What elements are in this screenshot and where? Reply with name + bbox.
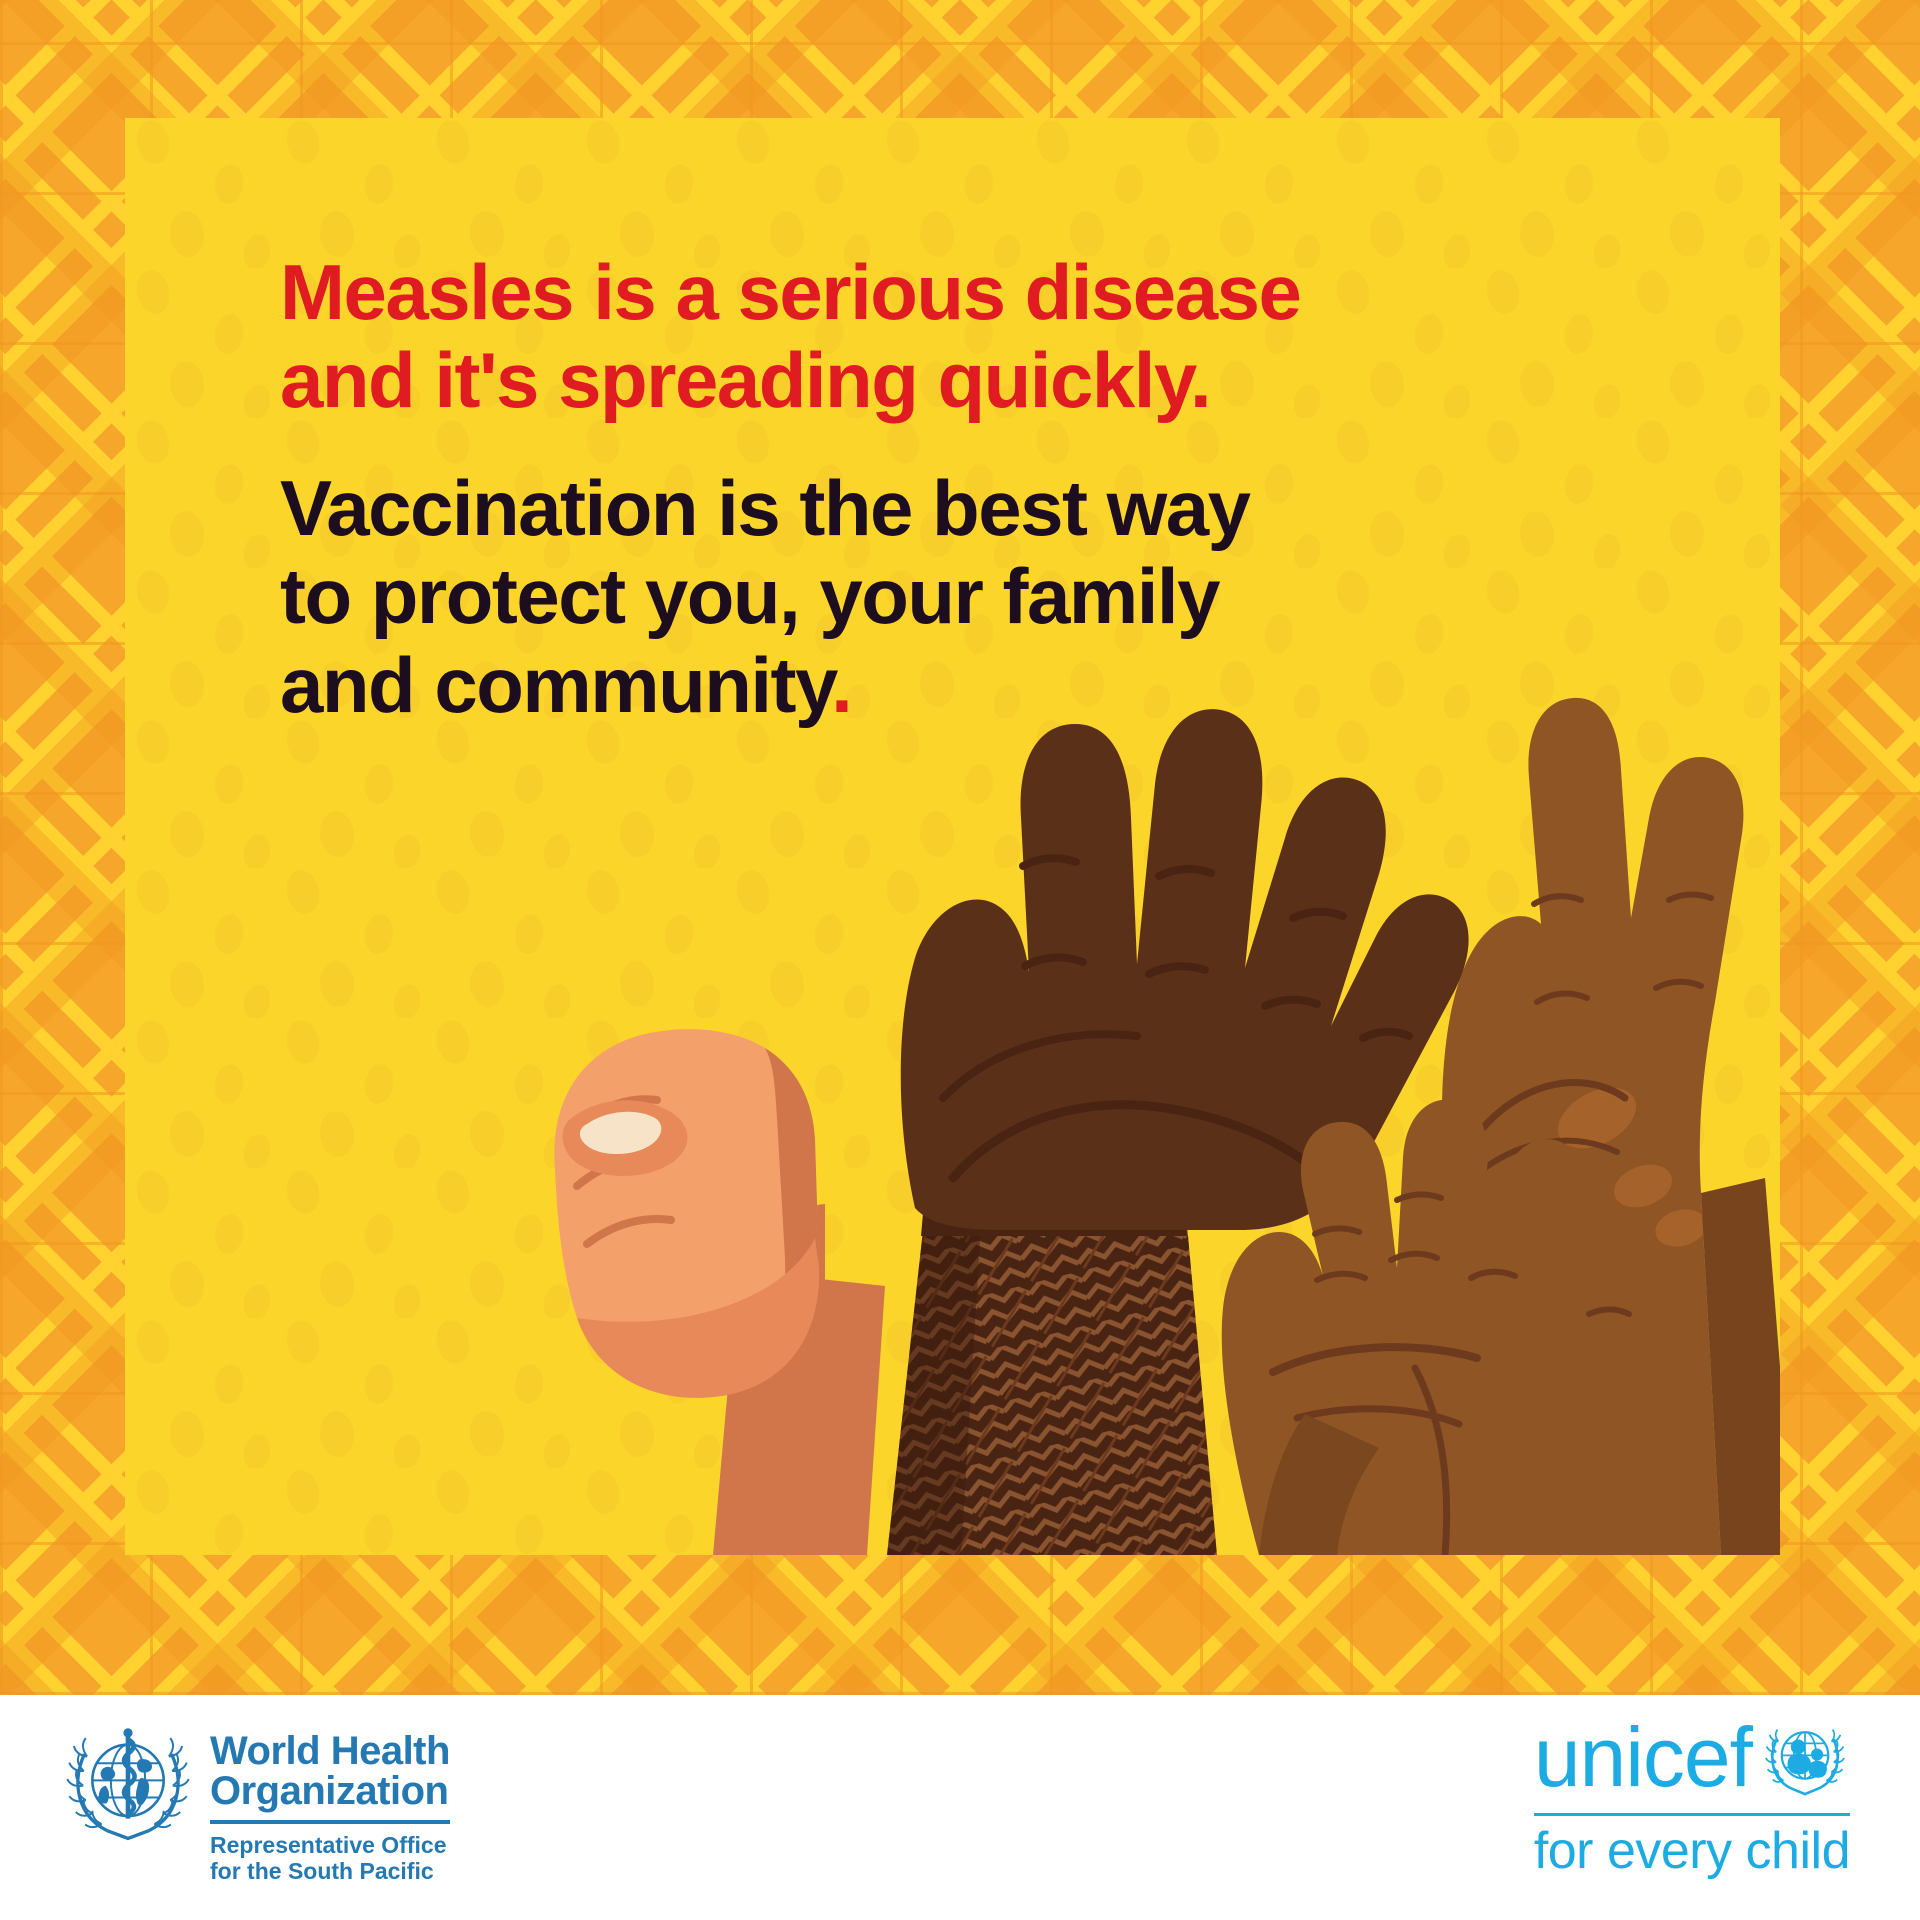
subhead-final-period: . xyxy=(831,641,851,729)
who-name-line-1: World Health xyxy=(210,1731,450,1771)
who-divider xyxy=(210,1820,450,1824)
measles-vaccination-poster: Measles is a serious disease and it's sp… xyxy=(0,0,1920,1920)
headline-line-2: and it's spreading quickly. xyxy=(280,336,1440,424)
subhead-line-2: to protect you, your family xyxy=(280,552,1440,640)
who-emblem-icon xyxy=(62,1717,194,1849)
poster-copy: Measles is a serious disease and it's sp… xyxy=(280,248,1440,729)
unicef-tagline: for every child xyxy=(1534,1824,1850,1879)
subhead-line-3: and community. xyxy=(280,641,1440,729)
who-wordmark: World Health Organization Representative… xyxy=(210,1717,450,1884)
unicef-emblem-icon xyxy=(1762,1715,1848,1801)
unicef-wordmark-row: unicef xyxy=(1534,1715,1850,1801)
subhead-line-3-text: and community xyxy=(280,641,831,729)
who-logo: World Health Organization Representative… xyxy=(62,1717,450,1884)
unicef-wordmark: unicef xyxy=(1534,1719,1752,1796)
subhead: Vaccination is the best way to protect y… xyxy=(280,464,1440,728)
who-office-line-2: for the South Pacific xyxy=(210,1858,450,1884)
tapa-border-pattern: Measles is a serious disease and it's sp… xyxy=(0,0,1920,1695)
subhead-line-1: Vaccination is the best way xyxy=(280,464,1440,552)
unicef-logo: unicef xyxy=(1534,1715,1850,1879)
poster-inner-panel: Measles is a serious disease and it's sp… xyxy=(125,118,1780,1555)
footer-logo-bar: World Health Organization Representative… xyxy=(0,1695,1920,1920)
unicef-divider xyxy=(1534,1813,1850,1816)
who-name-line-2: Organization xyxy=(210,1771,450,1811)
headline-line-1: Measles is a serious disease xyxy=(280,248,1440,336)
headline: Measles is a serious disease and it's sp… xyxy=(280,248,1440,424)
who-office-line-1: Representative Office xyxy=(210,1832,450,1858)
